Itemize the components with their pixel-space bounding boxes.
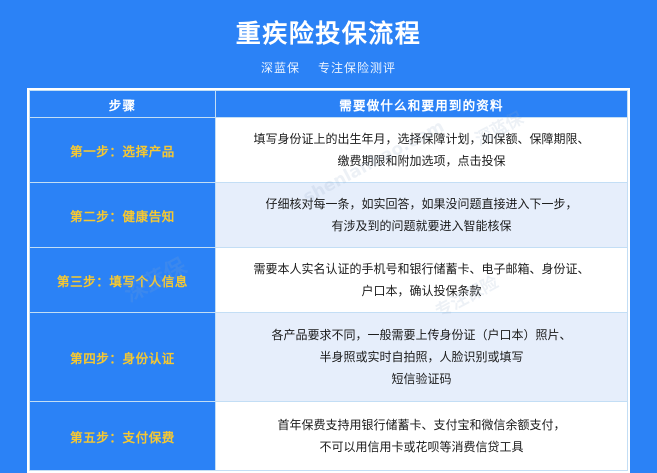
step-description-4: 各产品要求不同，一般需要上传身份证（户口本）照片、 半身照或实时自拍照，人脸识别… [216, 313, 628, 402]
step-label-4: 第四步：身份认证 [30, 313, 216, 402]
step-description-2: 仔细核对每一条，如实回答，如果没问题直接进入下一步， 有涉及到的问题就要进入智能… [216, 183, 628, 248]
step-label-3: 第三步：填写个人信息 [30, 248, 216, 313]
table-row: 第一步：选择产品 填写身份证上的出生年月，选择保障计划，如保额、保障期限、 缴费… [30, 118, 628, 183]
step-label-5: 第五步：支付保费 [30, 402, 216, 471]
description-line: 缴费期限和附加选项，点击投保 [230, 150, 613, 172]
brand-name: 深蓝保 [261, 61, 300, 75]
description-line: 各产品要求不同，一般需要上传身份证（户口本）照片、 [230, 324, 613, 346]
table-header-row: 步骤 需要做什么和要用到的资料 [30, 91, 628, 118]
step-description-1: 填写身份证上的出生年月，选择保障计划，如保额、保障期限、 缴费期限和附加选项，点… [216, 118, 628, 183]
step-description-3: 需要本人实名认证的手机号和银行储蓄卡、电子邮箱、身份证、 户口本，确认投保条款 [216, 248, 628, 313]
table-row: 第三步：填写个人信息 需要本人实名认证的手机号和银行储蓄卡、电子邮箱、身份证、 … [30, 248, 628, 313]
brand-tagline: 专注保险测评 [318, 61, 396, 75]
process-table-container: 步骤 需要做什么和要用到的资料 第一步：选择产品 填写身份证上的出生年月，选择保… [27, 88, 630, 473]
column-header-step: 步骤 [30, 91, 216, 118]
step-label-2: 第二步：健康告知 [30, 183, 216, 248]
column-header-description: 需要做什么和要用到的资料 [216, 91, 628, 118]
description-line: 仔细核对每一条，如实回答，如果没问题直接进入下一步， [230, 193, 613, 215]
step-description-5: 首年保费支持用银行储蓄卡、支付宝和微信余额支付， 不可以用信用卡或花呗等消费信贷… [216, 402, 628, 471]
description-line: 短信验证码 [230, 368, 613, 390]
poster-subtitle: 深蓝保专注保险测评 [0, 59, 657, 76]
table-row: 第四步：身份认证 各产品要求不同，一般需要上传身份证（户口本）照片、 半身照或实… [30, 313, 628, 402]
description-line: 不可以用信用卡或花呗等消费信贷工具 [230, 436, 613, 458]
table-body: 第一步：选择产品 填写身份证上的出生年月，选择保障计划，如保额、保障期限、 缴费… [30, 118, 628, 471]
description-line: 需要本人实名认证的手机号和银行储蓄卡、电子邮箱、身份证、 [230, 258, 613, 280]
process-table: 步骤 需要做什么和要用到的资料 第一步：选择产品 填写身份证上的出生年月，选择保… [29, 90, 628, 471]
description-line: 户口本，确认投保条款 [230, 280, 613, 302]
infographic-poster: 重疾险投保流程 深蓝保专注保险测评 深蓝保 shenlanbao.com 深蓝保… [0, 0, 657, 400]
table-row: 第二步：健康告知 仔细核对每一条，如实回答，如果没问题直接进入下一步， 有涉及到… [30, 183, 628, 248]
description-line: 填写身份证上的出生年月，选择保障计划，如保额、保障期限、 [230, 128, 613, 150]
table-row: 第五步：支付保费 首年保费支持用银行储蓄卡、支付宝和微信余额支付， 不可以用信用… [30, 402, 628, 471]
page-title: 重疾险投保流程 [0, 18, 657, 49]
step-label-1: 第一步：选择产品 [30, 118, 216, 183]
description-line: 有涉及到的问题就要进入智能核保 [230, 215, 613, 237]
poster-header: 重疾险投保流程 深蓝保专注保险测评 [0, 0, 657, 76]
table-header: 步骤 需要做什么和要用到的资料 [30, 91, 628, 118]
description-line: 首年保费支持用银行储蓄卡、支付宝和微信余额支付， [230, 414, 613, 436]
description-line: 半身照或实时自拍照，人脸识别或填写 [230, 346, 613, 368]
